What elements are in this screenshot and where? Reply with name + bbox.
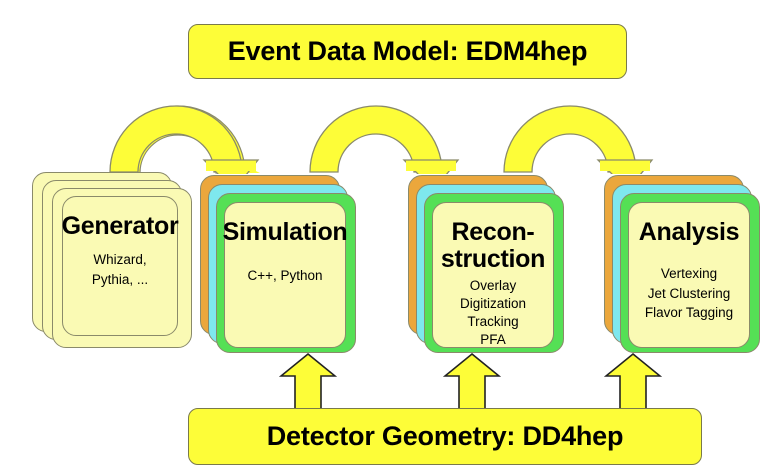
- card-detail-line: C++, Python: [247, 266, 322, 286]
- up-arrow-to-reconstruction: [443, 352, 501, 414]
- card-details-simulation: C++, Python: [247, 266, 322, 286]
- arc-arrow-1: [106, 72, 271, 174]
- card-title-simulation: Simulation: [223, 219, 348, 246]
- card-details-analysis: Vertexing Jet Clustering Flavor Tagging: [645, 264, 733, 323]
- card-detail-line: PFA: [460, 331, 526, 349]
- card-front-generator: Generator Whizard, Pythia, ...: [62, 196, 178, 336]
- card-details-generator: Whizard, Pythia, ...: [92, 250, 148, 289]
- diagram-canvas: Event Data Model: EDM4hep Generator: [0, 0, 764, 472]
- card-detail-line: Flavor Tagging: [645, 303, 733, 323]
- card-front-analysis: Analysis Vertexing Jet Clustering Flavor…: [628, 202, 750, 348]
- up-arrow-to-simulation: [279, 352, 337, 414]
- card-detail-line: Digitization: [460, 295, 526, 313]
- card-title-reconstruction: Recon- struction: [441, 219, 545, 273]
- card-detail-line: Whizard,: [92, 250, 148, 270]
- card-title-analysis: Analysis: [639, 219, 739, 246]
- card-front-simulation: Simulation C++, Python: [224, 202, 346, 348]
- card-title-line: Recon-: [441, 219, 545, 246]
- card-detail-line: Overlay: [460, 277, 526, 295]
- event-data-model-banner: Event Data Model: EDM4hep: [188, 24, 627, 79]
- card-front-reconstruction: Recon- struction Overlay Digitization Tr…: [432, 202, 554, 348]
- up-arrow-to-analysis: [604, 352, 662, 414]
- card-detail-line: Vertexing: [645, 264, 733, 284]
- card-detail-line: Pythia, ...: [92, 270, 148, 290]
- arc-arrow-2: [306, 72, 471, 174]
- detector-geometry-banner: Detector Geometry: DD4hep: [188, 408, 702, 465]
- card-details-reconstruction: Overlay Digitization Tracking PFA: [460, 277, 526, 349]
- card-detail-line: Tracking: [460, 313, 526, 331]
- card-title-line: struction: [441, 246, 545, 273]
- card-title-generator: Generator: [62, 213, 179, 240]
- card-detail-line: Jet Clustering: [645, 284, 733, 304]
- arc-arrow-3: [500, 72, 665, 174]
